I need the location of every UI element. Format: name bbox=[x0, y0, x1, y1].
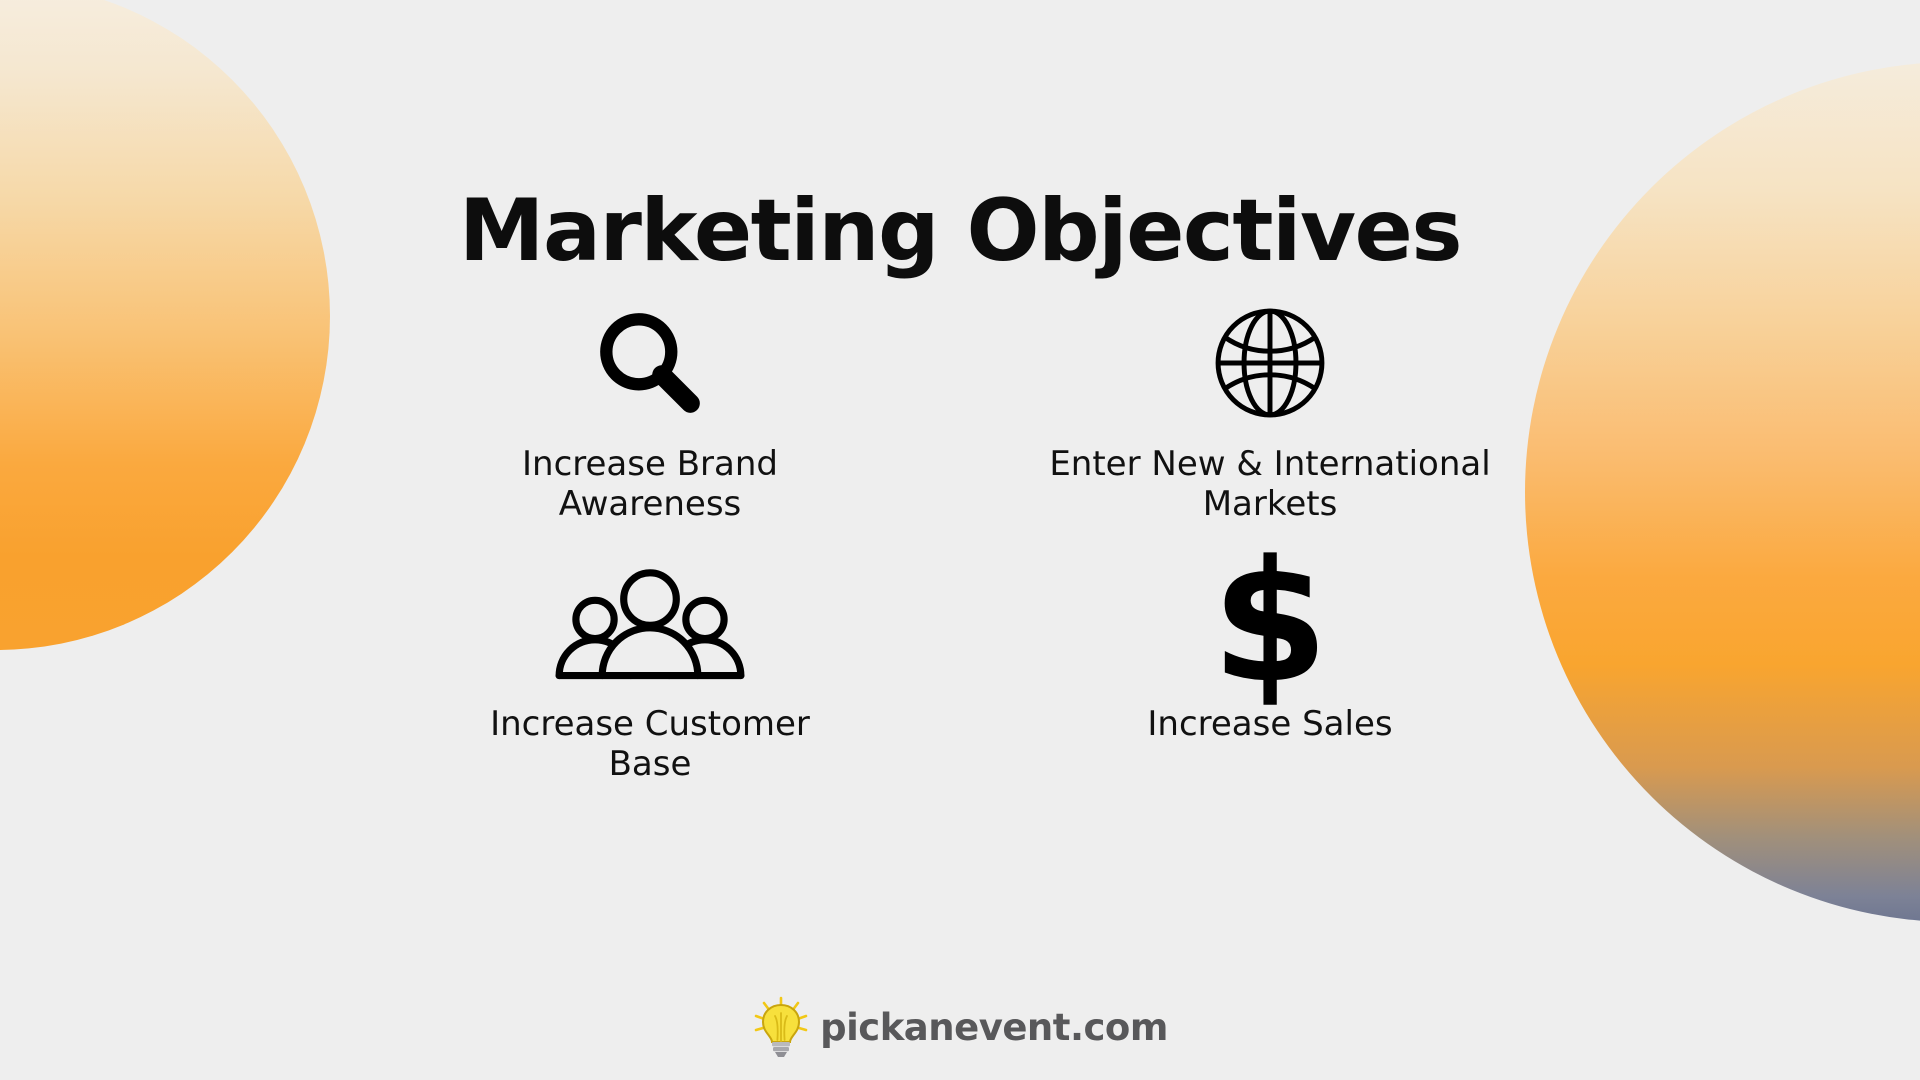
objective-label: Increase Customer Base bbox=[450, 704, 850, 784]
dollar-icon: $ bbox=[1212, 560, 1329, 686]
objective-item-customer-base: Increase Customer Base bbox=[360, 560, 940, 790]
slide-canvas: Marketing Objectives Increase Brand Awar… bbox=[0, 0, 1920, 1080]
objectives-grid: Increase Brand Awareness Enter New & Int… bbox=[360, 300, 1560, 790]
people-icon bbox=[552, 560, 748, 686]
objective-label: Increase Sales bbox=[1147, 704, 1392, 744]
search-icon bbox=[594, 300, 706, 426]
globe-icon bbox=[1211, 300, 1329, 426]
objective-item-sales: $ Increase Sales bbox=[980, 560, 1560, 790]
objective-label: Increase Brand Awareness bbox=[485, 444, 815, 524]
objective-item-new-markets: Enter New & International Markets bbox=[980, 300, 1560, 530]
brand-name: pickanevent.com bbox=[820, 1009, 1168, 1046]
lightbulb-icon bbox=[752, 996, 810, 1058]
objective-item-brand-awareness: Increase Brand Awareness bbox=[360, 300, 940, 530]
decorative-gradient-circle-left bbox=[0, 0, 330, 650]
footer-branding: pickanevent.com bbox=[0, 996, 1920, 1058]
objective-label: Enter New & International Markets bbox=[1010, 444, 1530, 524]
dollar-sign-glyph: $ bbox=[1212, 559, 1329, 687]
page-title: Marketing Objectives bbox=[0, 186, 1920, 276]
